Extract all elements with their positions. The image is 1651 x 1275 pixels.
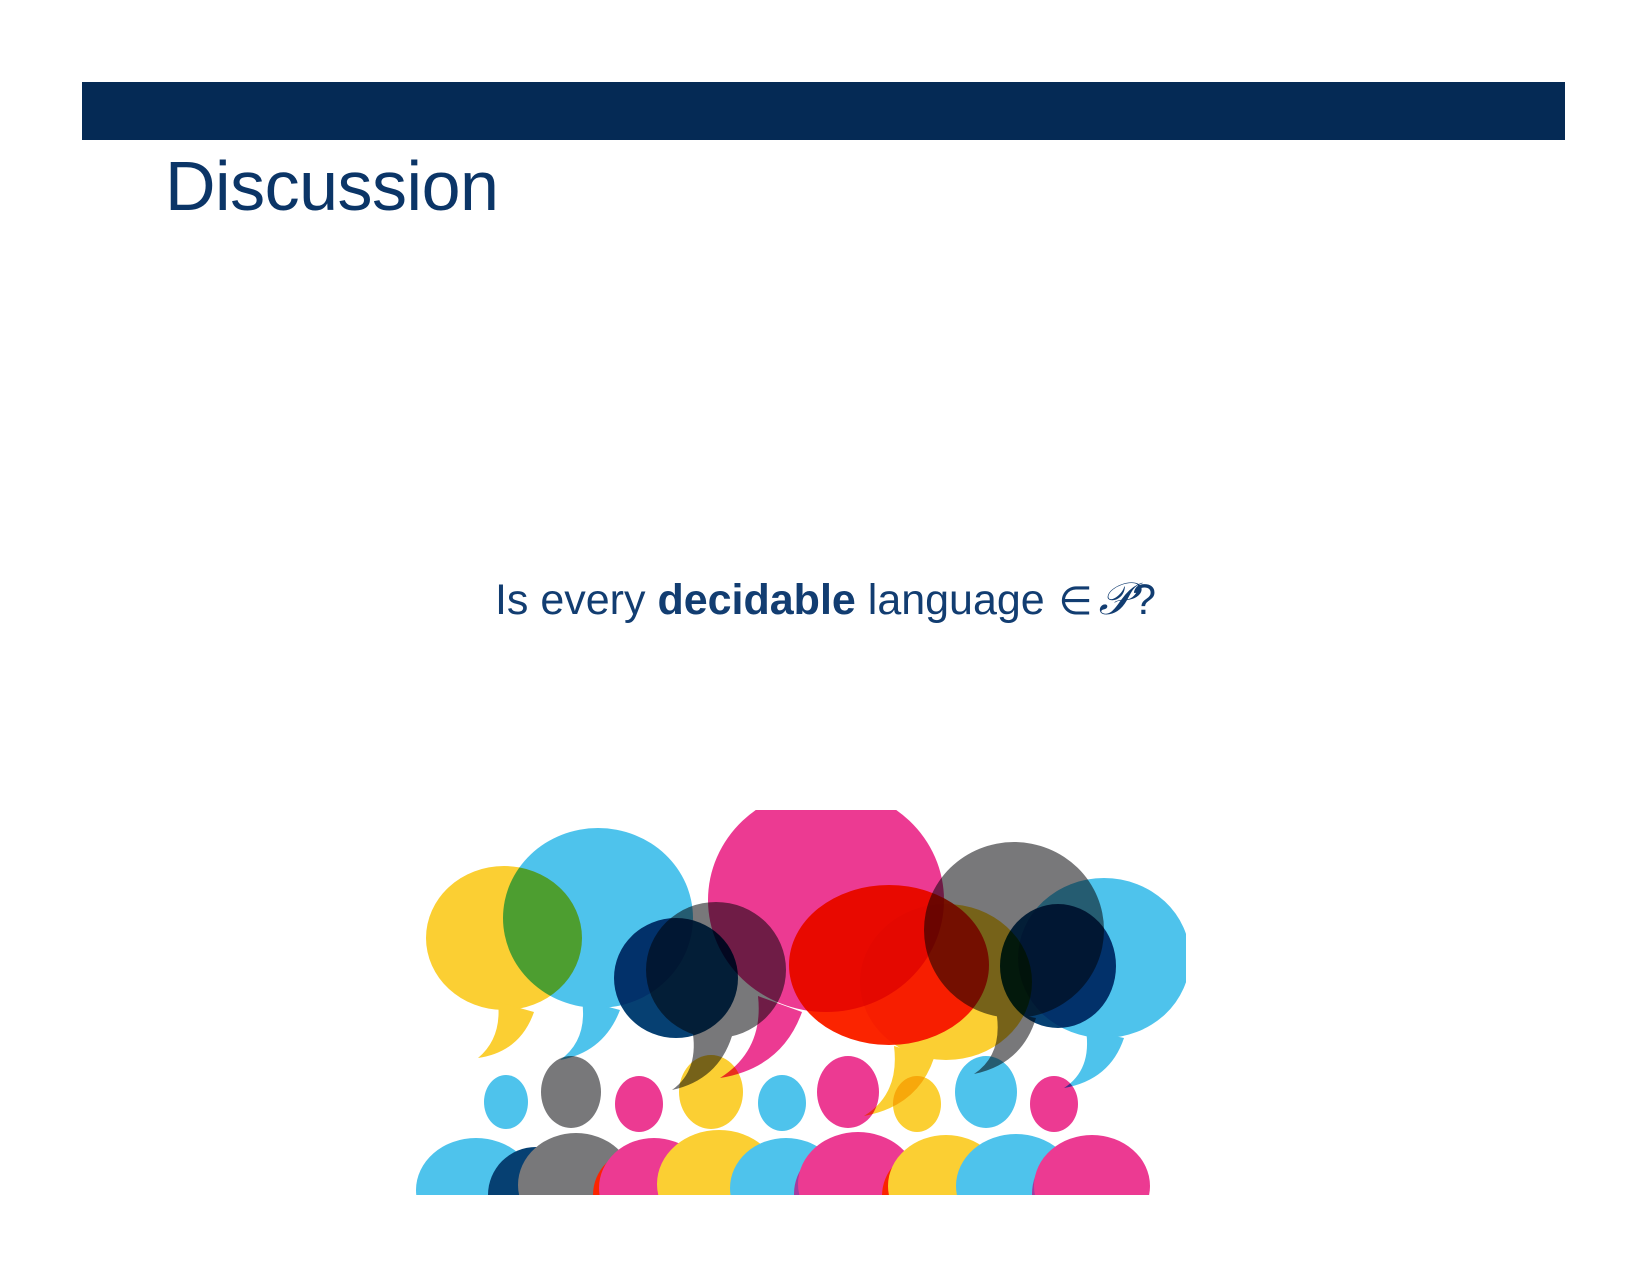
slide-canvas: Discussion Is every decidable language ∈… xyxy=(0,0,1651,1275)
discussion-illustration xyxy=(386,810,1186,1195)
person-cyan-5 xyxy=(758,1075,806,1131)
person-gray-2 xyxy=(541,1056,601,1128)
discussion-question: Is every decidable language ∈𝒫? xyxy=(0,572,1651,627)
question-suffix: ? xyxy=(1132,576,1156,624)
shoulder-magenta-14 xyxy=(1034,1135,1150,1195)
speech-bubble-group xyxy=(426,810,1186,1116)
person-cyan-1 xyxy=(484,1075,528,1129)
complexity-class-p-symbol: 𝒫 xyxy=(1095,572,1132,625)
person-magenta-9 xyxy=(1030,1076,1078,1132)
person-magenta-3 xyxy=(615,1076,663,1132)
question-prefix: Is every xyxy=(495,576,658,624)
person-yellow-4 xyxy=(679,1055,743,1129)
page-title: Discussion xyxy=(165,150,498,224)
person-magenta-6 xyxy=(817,1056,879,1128)
person-yellow-7 xyxy=(893,1076,941,1132)
person-cyan-8 xyxy=(955,1056,1017,1128)
question-emphasis: decidable xyxy=(657,576,855,624)
audience-shoulders-row xyxy=(416,1130,1150,1195)
element-of-symbol: ∈ xyxy=(1057,579,1095,624)
audience-heads-row xyxy=(484,1055,1078,1132)
header-accent-bar xyxy=(82,82,1565,140)
bubble-navy-right xyxy=(1000,904,1116,1028)
question-middle: language xyxy=(856,576,1057,624)
